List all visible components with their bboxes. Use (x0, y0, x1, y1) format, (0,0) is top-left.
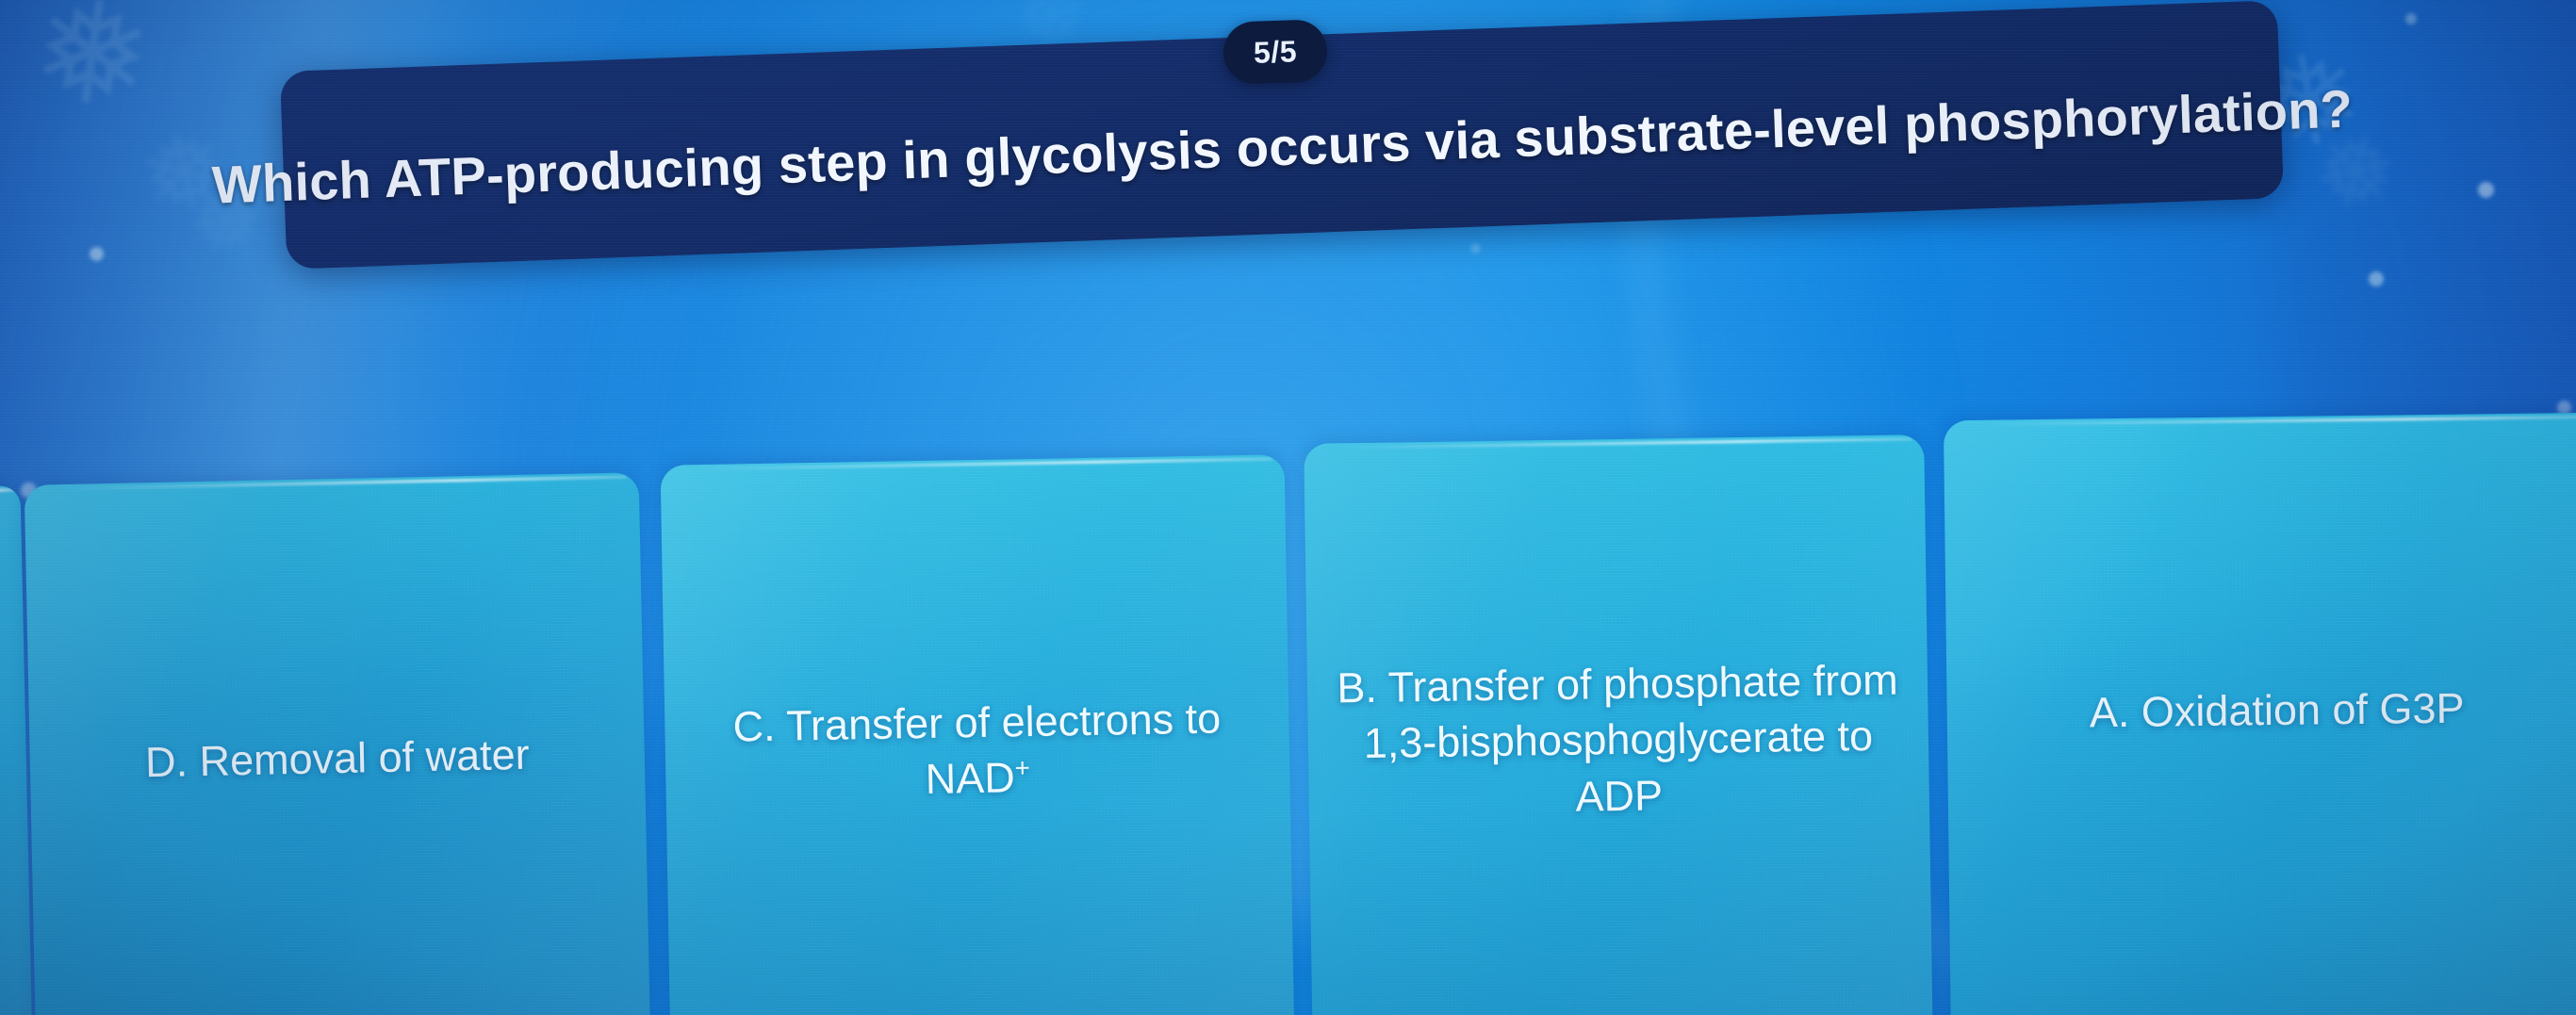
question-counter-label: 5/5 (1253, 34, 1297, 71)
answer-label-a: A. Oxidation of G3P (2065, 680, 2489, 742)
answer-card-c[interactable]: C. Transfer of electrons to NAD+ (661, 454, 1295, 1015)
answer-label-c: C. Transfer of electrons to NAD+ (665, 689, 1290, 811)
answer-label-d: D. Removal of water (120, 726, 554, 791)
answer-card-d[interactable]: D. Removal of water (25, 472, 651, 1015)
question-counter-badge: 5/5 (1222, 19, 1328, 85)
answer-card-b[interactable]: B. Transfer of phosphate from 1,3-bispho… (1304, 434, 1933, 1015)
answer-card-a[interactable]: A. Oxidation of G3P (1944, 413, 2576, 1015)
answer-options-container: D. Removal of water C. Transfer of elect… (0, 0, 2576, 1015)
quiz-screen: ❅❅❅❅❅❅❅ Which ATP-producing step in glyc… (0, 0, 2576, 1015)
answer-label-b: B. Transfer of phosphate from 1,3-bispho… (1307, 651, 1930, 828)
